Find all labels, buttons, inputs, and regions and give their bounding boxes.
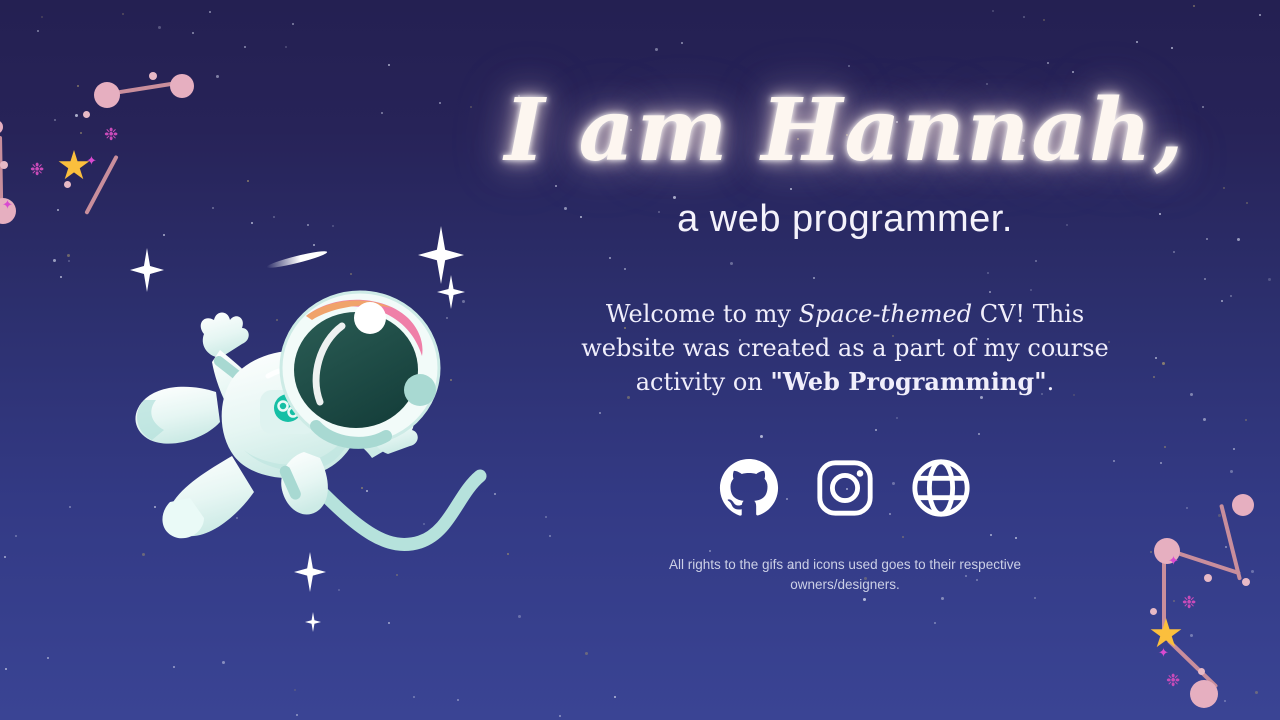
constellation-node — [1190, 680, 1218, 708]
constellation-pebble — [149, 72, 157, 80]
constellation-top-left: ✪ ❉ ❉ ✦ ✦ — [0, 56, 206, 256]
intro-paragraph: Welcome to my Space-themed CV! This webs… — [560, 297, 1130, 399]
github-icon — [718, 457, 780, 519]
intro-emphasis: Space-themed — [799, 300, 973, 328]
constellation-sparkle: ✦ — [2, 198, 13, 211]
astronaut-illustration — [120, 280, 510, 570]
constellation-pebble — [83, 111, 90, 118]
constellation-node — [94, 82, 120, 108]
constellation-glyph: ❉ — [104, 126, 118, 143]
constellation-pebble — [1204, 574, 1212, 582]
intro-part1: Welcome to my — [606, 300, 799, 328]
page-title: I am Hannah, — [504, 88, 1185, 174]
social-link-github[interactable] — [718, 457, 780, 519]
constellation-pebble — [1242, 578, 1250, 586]
constellation-glyph: ❉ — [1182, 594, 1196, 611]
constellation-node — [1232, 494, 1254, 516]
hero-content: I am Hannah, a web programmer. Welcome t… — [515, 0, 1175, 720]
hero-stage: ✪ ❉ ❉ ✦ ✦ ❉ ❉ ✦ ✦ — [0, 0, 1280, 720]
constellation-pebble — [64, 181, 71, 188]
instagram-icon — [814, 457, 876, 519]
constellation-node — [170, 74, 194, 98]
social-link-website[interactable] — [910, 457, 972, 519]
globe-icon — [910, 457, 972, 519]
constellation-pebble — [0, 161, 8, 169]
intro-strong: "Web Programming" — [770, 367, 1046, 396]
intro-part3: . — [1047, 368, 1055, 396]
footer-disclaimer: All rights to the gifs and icons used go… — [620, 555, 1070, 596]
constellation-pebble — [1198, 668, 1205, 675]
constellation-node — [0, 120, 3, 134]
social-link-instagram[interactable] — [814, 457, 876, 519]
shooting-star — [266, 249, 328, 271]
page-subtitle: a web programmer. — [677, 198, 1013, 241]
sparkle-star — [305, 612, 321, 632]
sparkle-star — [418, 226, 464, 284]
constellation-glyph: ❉ — [30, 161, 44, 178]
constellation-sparkle: ✦ — [86, 154, 97, 167]
social-links — [718, 457, 972, 519]
